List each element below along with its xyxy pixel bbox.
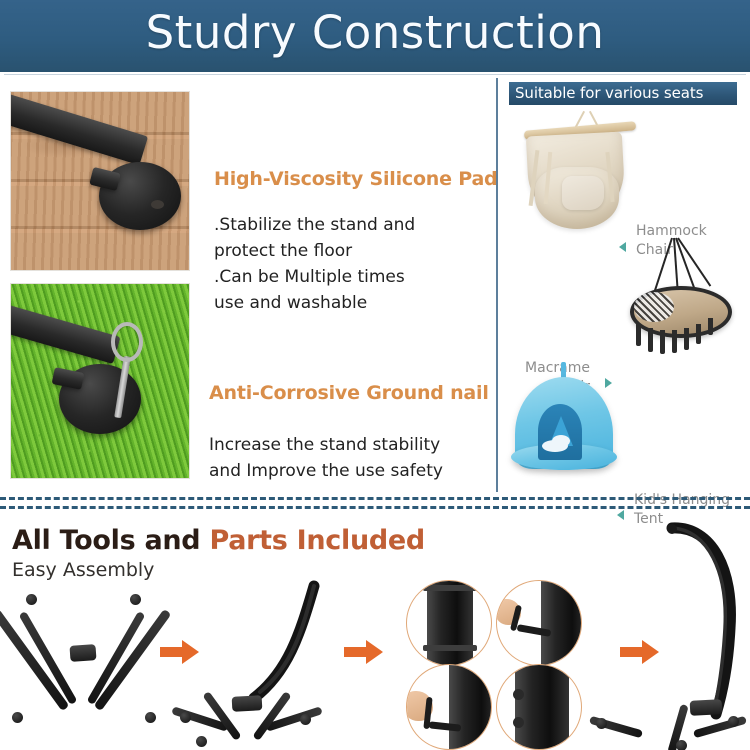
base-foot <box>728 716 739 727</box>
triangle-left-icon-hammock <box>619 242 626 252</box>
base-foot <box>676 740 687 750</box>
tent-cloud-cushion <box>552 435 570 447</box>
feature-body-line: .Can be Multiple times <box>214 264 504 290</box>
ground-nail-loop <box>111 322 143 362</box>
feature-body-ground-nail: Increase the stand stability and Improve… <box>209 432 499 484</box>
base-foot <box>196 736 207 747</box>
assembly-subheading: Easy Assembly <box>12 559 154 581</box>
lock-pin <box>513 689 524 700</box>
macrame-fringe <box>636 324 641 346</box>
assembly-heading-dark: All Tools and <box>12 525 200 556</box>
base-center-hub <box>690 699 723 716</box>
photo-ground-nail-on-grass <box>10 283 190 479</box>
macrame-fringe <box>672 330 677 353</box>
feature-body-line: and Improve the use safety <box>209 458 499 484</box>
hammock-pillow <box>562 176 604 210</box>
detail-circle-pole-tube <box>406 580 492 666</box>
base-foot <box>12 712 23 723</box>
section-divider-line-bottom <box>0 506 750 509</box>
assembly-heading: All Tools and Parts Included <box>12 525 425 556</box>
macrame-net-pattern <box>634 292 674 322</box>
base-foot <box>145 712 156 723</box>
detail-circle-turn-crank <box>406 664 492 750</box>
pole-ring <box>423 585 477 591</box>
step-arrow-icon <box>160 637 200 667</box>
seats-panel-badge: Suitable for various seats <box>509 82 737 105</box>
feature-body-line: use and washable <box>214 290 504 316</box>
feature-title-ground-nail: Anti-Corrosive Ground nail <box>209 382 489 404</box>
macrame-fringe <box>708 318 713 335</box>
feature-title-silicone-pad: High-Viscosity Silicone Pad <box>214 168 497 190</box>
page-title: Studry Construction <box>0 6 750 59</box>
pole-tube <box>427 580 473 666</box>
feature-body-silicone-pad: .Stabilize the stand and protect the flo… <box>214 212 504 316</box>
feature-body-line: Increase the stand stability <box>209 432 499 458</box>
seat-label-line: Chair <box>636 241 707 260</box>
upper-content-area: High-Viscosity Silicone Pad .Stabilize t… <box>0 72 750 492</box>
product-infographic: Studry Construction High-Viscosity Silic… <box>0 0 750 750</box>
base-center-hub <box>69 644 96 662</box>
feature-body-line: .Stabilize the stand and <box>214 212 504 238</box>
step-arrow-icon <box>344 637 384 667</box>
seat-label-line: Macrame <box>520 359 590 378</box>
lock-pin <box>513 717 524 728</box>
base-foot <box>26 594 37 605</box>
macrame-fringe <box>696 324 701 344</box>
section-divider-line-top <box>0 497 750 500</box>
macrame-fringe <box>648 328 653 352</box>
pad-screw <box>151 200 164 209</box>
base-foot <box>300 714 311 725</box>
assembly-heading-orange: Parts Included <box>209 525 425 556</box>
base-foot <box>596 718 607 729</box>
feature-body-line: protect the floor <box>214 238 504 264</box>
photo-silicone-pad-on-deck <box>10 91 190 271</box>
macrame-fringe <box>660 330 665 354</box>
pole-tube <box>449 664 492 750</box>
base-foot <box>180 712 191 723</box>
panel-top-edge <box>4 74 746 75</box>
header-band: Studry Construction <box>0 0 750 72</box>
base-foot <box>130 594 141 605</box>
pole-tube <box>515 664 569 750</box>
pole-tube <box>541 580 582 666</box>
pole-ring <box>423 645 477 651</box>
detail-circle-insert-crank <box>496 580 582 666</box>
macrame-fringe <box>684 328 689 350</box>
base-center-hub <box>232 695 263 712</box>
assembly-section: All Tools and Parts Included Easy Assemb… <box>0 512 750 750</box>
triangle-right-icon-macrame <box>605 378 612 388</box>
detail-circle-lock-pins <box>496 664 582 750</box>
